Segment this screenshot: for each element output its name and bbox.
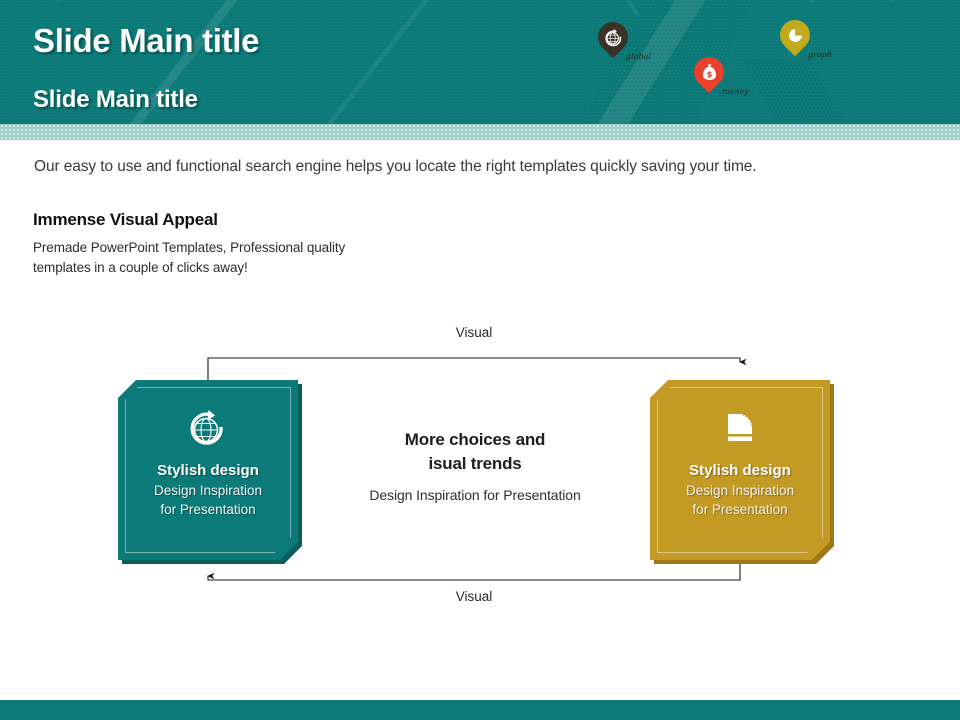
card-stylish-design-right[interactable]: Stylish design Design Inspiration for Pr… <box>650 380 830 560</box>
card-title: Stylish design <box>689 462 791 479</box>
section-heading: Immense Visual Appeal <box>33 210 218 230</box>
center-subtitle: Design Inspiration for Presentation <box>330 487 620 503</box>
pin-label: graph <box>807 50 832 59</box>
section-paragraph: Premade PowerPoint Templates, Profession… <box>33 238 345 278</box>
card-subtitle-line-1: Design Inspiration <box>154 481 262 500</box>
card-subtitle: Design Inspiration for Presentation <box>686 481 794 519</box>
lead-paragraph: Our easy to use and functional search en… <box>34 158 757 176</box>
globe-refresh-icon <box>188 408 228 448</box>
card-subtitle-line-2: for Presentation <box>686 500 794 519</box>
slide-canvas: global $ money <box>0 0 960 720</box>
money-bag-icon: $ <box>694 59 724 85</box>
card-subtitle: Design Inspiration for Presentation <box>154 481 262 519</box>
svg-text:$: $ <box>706 69 712 79</box>
card-subtitle-line-1: Design Inspiration <box>686 481 794 500</box>
center-title-line-1: More choices and <box>330 428 620 452</box>
map-pin-money[interactable]: $ money <box>694 57 724 101</box>
card-subtitle-line-2: for Presentation <box>154 500 262 519</box>
flow-arrow-top <box>208 358 740 382</box>
center-title: More choices and isual trends <box>330 428 620 476</box>
process-diagram: Visual Visual Styl <box>0 300 960 630</box>
pie-chart-icon <box>780 22 810 48</box>
card-title: Stylish design <box>157 462 259 479</box>
map-pin-graph[interactable]: graph <box>780 20 810 64</box>
pin-label: money <box>721 87 749 96</box>
page-title: Slide Main title <box>33 22 259 60</box>
page-subtitle: Slide Main title <box>33 86 198 114</box>
card-content: Stylish design Design Inspiration for Pr… <box>650 380 830 560</box>
header-texture-strip <box>0 124 960 140</box>
flow-label-bottom: Visual <box>414 589 534 604</box>
slide-header: global $ money <box>0 0 960 124</box>
document-page-icon <box>720 408 760 448</box>
card-content: Stylish design Design Inspiration for Pr… <box>118 380 298 560</box>
card-stylish-design-left[interactable]: Stylish design Design Inspiration for Pr… <box>118 380 298 560</box>
slide-footer <box>0 700 960 720</box>
flow-label-top: Visual <box>414 325 534 340</box>
map-pin-global[interactable]: global <box>598 22 628 66</box>
pin-label: global <box>625 52 651 61</box>
section-paragraph-line-1: Premade PowerPoint Templates, Profession… <box>33 238 345 258</box>
section-paragraph-line-2: templates in a couple of clicks away! <box>33 258 345 278</box>
center-text-block: More choices and isual trends Design Ins… <box>330 428 620 503</box>
center-title-line-2: isual trends <box>330 452 620 476</box>
globe-icon <box>598 24 628 50</box>
